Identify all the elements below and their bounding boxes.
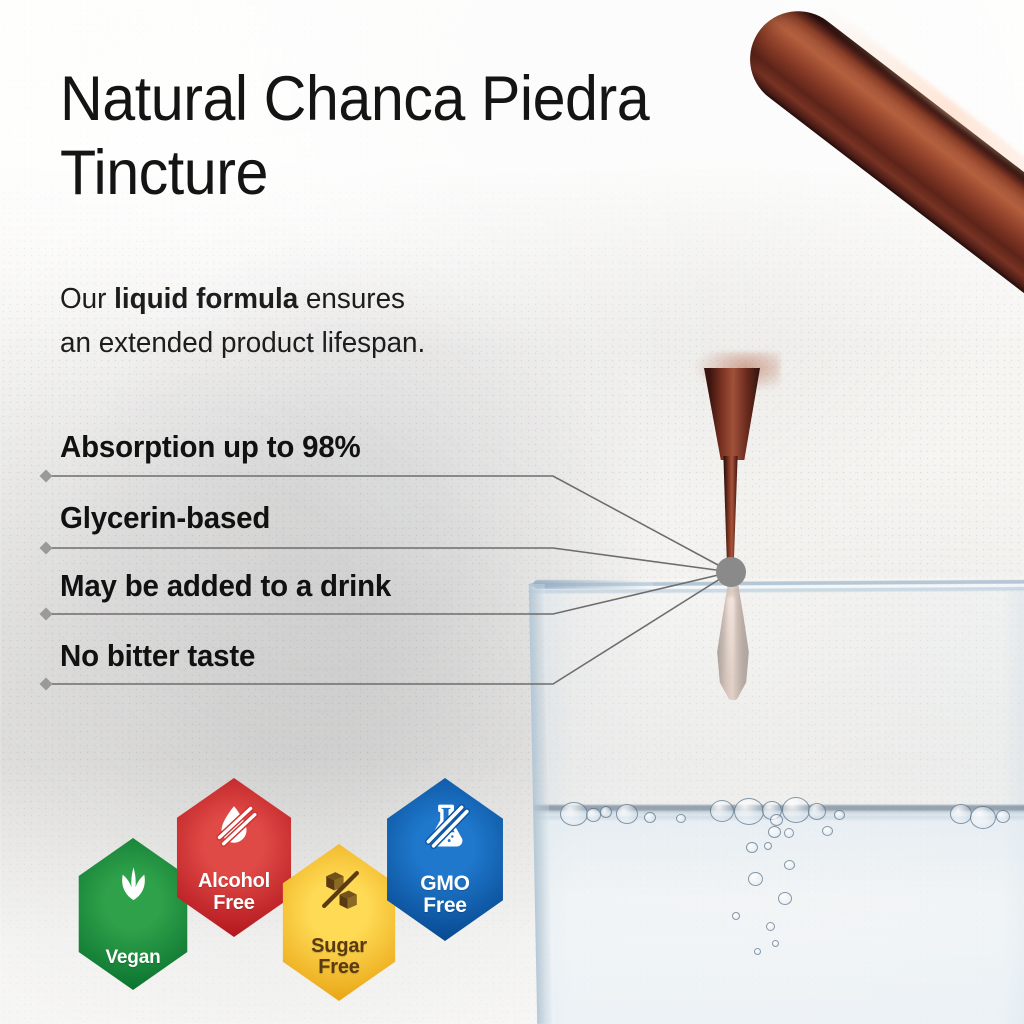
badge-label: AlcoholFree bbox=[198, 870, 270, 914]
sugar-cubes-slash-icon bbox=[278, 865, 400, 914]
badge-label-line-2: Free bbox=[198, 892, 270, 914]
badge-label-line-2: Free bbox=[420, 895, 470, 917]
badge-label-line-2: Free bbox=[311, 957, 367, 978]
badge-label: Vegan bbox=[106, 947, 161, 968]
infographic-canvas: Natural Chanca Piedra Tincture Our liqui… bbox=[0, 0, 1024, 1024]
badge-gmo-free: GMOFree bbox=[382, 778, 508, 941]
badge-label-line-1: Sugar bbox=[311, 936, 367, 957]
droplet-slash-icon bbox=[172, 800, 296, 850]
flask-slash-icon bbox=[382, 800, 508, 850]
badge-label: GMOFree bbox=[420, 873, 470, 917]
badge-label-line-1: Alcohol bbox=[198, 870, 270, 892]
badge-label-line-1: GMO bbox=[420, 873, 470, 895]
leaf-icon bbox=[74, 859, 192, 906]
badge-label: SugarFree bbox=[311, 936, 367, 978]
badge-sugar-free: SugarFree bbox=[278, 844, 400, 1001]
badge-alcohol-free: AlcoholFree bbox=[172, 778, 296, 937]
badge-vegan: Vegan bbox=[74, 838, 192, 990]
certification-badge-group: Vegan AlcoholFree SugarFree bbox=[0, 0, 1024, 1024]
badge-label-line-1: Vegan bbox=[106, 947, 161, 968]
